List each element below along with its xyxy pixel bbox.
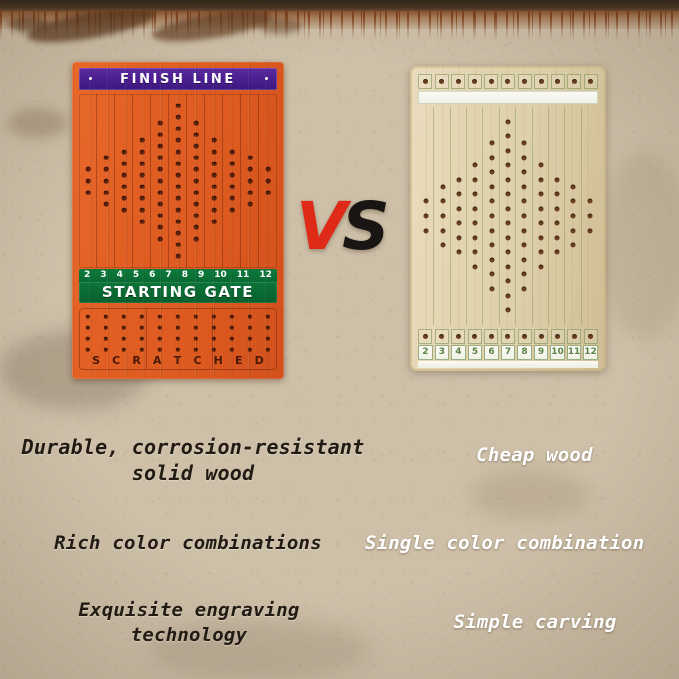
scratched-hole <box>194 315 198 319</box>
peg-hole <box>505 264 510 269</box>
scratched-letter-s: S <box>92 355 100 366</box>
peg-hole <box>587 199 592 204</box>
right-feature-2: Single color combination <box>365 531 679 556</box>
peg-hole <box>489 141 494 146</box>
peg-hole <box>555 235 560 240</box>
peg-hole <box>505 206 510 211</box>
peg-hole <box>522 228 527 233</box>
left-board-scratched-area: SCRATCHED <box>79 308 277 370</box>
peg-hole <box>176 103 181 108</box>
peg-hole <box>522 184 527 189</box>
peg-hole <box>104 190 109 195</box>
scratched-hole <box>158 337 162 341</box>
right-board-cell <box>551 74 565 89</box>
peg-column <box>516 107 532 325</box>
number-label: 10 <box>551 348 564 357</box>
number-label: 4 <box>455 348 461 357</box>
right-board-cell <box>435 329 449 344</box>
peg-hole <box>230 150 235 155</box>
peg-hole <box>194 144 199 149</box>
right-board-number-2: 2 <box>418 345 433 360</box>
scratched-hole <box>212 326 216 330</box>
peg-hole <box>439 334 444 339</box>
peg-hole <box>472 79 477 84</box>
number-label: 8 <box>521 348 527 357</box>
peg-hole <box>572 334 577 339</box>
peg-hole <box>194 190 199 195</box>
starting-gate-banner: STARTING GATE <box>79 282 277 303</box>
peg-hole <box>456 221 461 226</box>
scratched-letter-h: H <box>214 355 223 366</box>
peg-hole <box>176 219 181 224</box>
right-board-cell <box>484 74 498 89</box>
gate-number-3: 3 <box>100 271 106 280</box>
peg-hole <box>489 272 494 277</box>
peg-hole <box>176 208 181 213</box>
peg-hole <box>571 214 576 219</box>
right-board-bottom-bar <box>418 361 598 368</box>
peg-hole <box>538 221 543 226</box>
right-board-cell <box>501 74 515 89</box>
peg-hole <box>489 170 494 175</box>
scratched-letter-t: T <box>174 355 182 366</box>
finish-line-banner: FINISH LINE <box>79 68 277 90</box>
peg-hole <box>176 161 181 166</box>
peg-hole <box>194 225 199 230</box>
peg-hole <box>522 243 527 248</box>
peg-hole <box>538 264 543 269</box>
peg-hole <box>158 167 163 172</box>
right-board-number-5: 5 <box>468 345 483 360</box>
peg-hole <box>140 161 145 166</box>
right-board-number-row: 23456789101112 <box>418 345 598 360</box>
peg-hole <box>505 308 510 313</box>
scratched-letter-e: E <box>235 355 243 366</box>
peg-hole <box>194 167 199 172</box>
scratched-hole <box>158 348 162 352</box>
left-feature-2: Rich color combinations <box>8 531 368 556</box>
peg-hole <box>489 228 494 233</box>
peg-hole <box>86 190 91 195</box>
peg-hole <box>571 199 576 204</box>
number-label: 2 <box>422 348 428 357</box>
peg-hole <box>489 199 494 204</box>
peg-column <box>434 107 450 325</box>
peg-hole <box>505 148 510 153</box>
peg-hole <box>505 192 510 197</box>
peg-hole <box>505 119 510 124</box>
scratched-hole <box>104 326 108 330</box>
peg-hole <box>104 156 109 161</box>
peg-hole <box>539 79 544 84</box>
scratched-hole <box>86 315 90 319</box>
scratched-letter-d: D <box>255 355 264 366</box>
peg-hole <box>248 179 253 184</box>
peg-hole <box>194 202 199 207</box>
peg-hole <box>176 185 181 190</box>
peg-column <box>500 107 516 325</box>
peg-hole <box>538 192 543 197</box>
peg-hole <box>588 334 593 339</box>
peg-hole <box>122 173 127 178</box>
scratched-hole <box>104 315 108 319</box>
peg-hole <box>439 79 444 84</box>
peg-hole <box>122 196 127 201</box>
number-label: 12 <box>584 348 597 357</box>
gate-number-9: 9 <box>198 271 204 280</box>
peg-column <box>169 94 187 268</box>
peg-hole <box>158 237 163 242</box>
peg-hole <box>472 334 477 339</box>
peg-hole <box>176 231 181 236</box>
peg-hole <box>505 279 510 284</box>
peg-column <box>133 94 151 268</box>
scratched-hole <box>158 315 162 319</box>
peg-hole <box>230 185 235 190</box>
peg-hole <box>539 334 544 339</box>
peg-hole <box>489 155 494 160</box>
scratched-label: SCRATCHED <box>80 353 276 367</box>
scratched-hole <box>140 337 144 341</box>
scratched-hole <box>194 326 198 330</box>
peg-hole <box>194 156 199 161</box>
scratched-hole <box>122 337 126 341</box>
versus-v-letter: V <box>296 188 342 265</box>
peg-hole <box>555 206 560 211</box>
peg-hole <box>555 79 560 84</box>
right-board-number-12: 12 <box>583 345 598 360</box>
scratched-letter-c: C <box>193 355 201 366</box>
right-board-number-3: 3 <box>435 345 450 360</box>
peg-hole <box>571 228 576 233</box>
gate-number-5: 5 <box>133 271 139 280</box>
right-board-cell <box>501 329 515 344</box>
right-board-bottom-hole-row <box>418 328 598 344</box>
peg-hole <box>587 228 592 233</box>
right-board-number-7: 7 <box>501 345 516 360</box>
peg-hole <box>571 243 576 248</box>
peg-hole <box>122 185 127 190</box>
gate-number-10: 10 <box>214 271 227 280</box>
peg-hole <box>522 214 527 219</box>
peg-column <box>259 94 277 268</box>
peg-hole <box>176 254 181 259</box>
scratched-hole <box>122 315 126 319</box>
right-feature-3: Simple carving <box>395 610 675 635</box>
peg-hole <box>555 221 560 226</box>
peg-hole <box>473 206 478 211</box>
right-board-cell <box>435 74 449 89</box>
scratched-hole <box>194 348 198 352</box>
peg-hole <box>505 221 510 226</box>
peg-column <box>549 107 565 325</box>
peg-hole <box>266 167 271 172</box>
peg-hole <box>505 134 510 139</box>
scratched-hole <box>212 337 216 341</box>
peg-hole <box>505 250 510 255</box>
right-board-cell <box>518 329 532 344</box>
peg-hole <box>212 161 217 166</box>
versus-s-letter: S <box>342 188 385 265</box>
peg-column <box>467 107 483 325</box>
peg-hole <box>212 219 217 224</box>
peg-hole <box>489 214 494 219</box>
right-board-number-8: 8 <box>517 345 532 360</box>
peg-hole <box>122 150 127 155</box>
right-board-cell <box>451 329 465 344</box>
peg-hole <box>230 208 235 213</box>
number-label: 6 <box>488 348 494 357</box>
peg-hole <box>571 184 576 189</box>
scratched-hole <box>140 315 144 319</box>
scratched-letter-c: C <box>112 355 120 366</box>
peg-hole <box>158 156 163 161</box>
scratched-hole <box>104 337 108 341</box>
peg-hole <box>505 235 510 240</box>
peg-hole <box>158 179 163 184</box>
gate-number-4: 4 <box>117 271 123 280</box>
peg-hole <box>158 144 163 149</box>
peg-hole <box>587 214 592 219</box>
peg-hole <box>266 179 271 184</box>
peg-hole <box>522 257 527 262</box>
peg-column <box>151 94 169 268</box>
peg-column <box>565 107 581 325</box>
peg-hole <box>522 155 527 160</box>
peg-hole <box>230 196 235 201</box>
peg-hole <box>212 208 217 213</box>
right-board-cell <box>584 74 598 89</box>
peg-hole <box>456 235 461 240</box>
scratched-hole <box>230 315 234 319</box>
peg-hole <box>140 208 145 213</box>
peg-hole <box>212 138 217 143</box>
peg-hole <box>140 150 145 155</box>
peg-column <box>115 94 133 268</box>
peg-hole <box>538 177 543 182</box>
scratched-hole <box>158 326 162 330</box>
peg-hole <box>230 173 235 178</box>
peg-hole <box>248 202 253 207</box>
scratched-hole <box>122 326 126 330</box>
peg-hole <box>423 334 428 339</box>
peg-hole <box>104 202 109 207</box>
scratched-hole <box>248 315 252 319</box>
peg-hole <box>489 79 494 84</box>
peg-hole <box>248 156 253 161</box>
peg-hole <box>538 250 543 255</box>
peg-hole <box>140 185 145 190</box>
left-product-board: FINISH LINE 23456789101112 STARTING GATE… <box>72 62 284 379</box>
left-board-peg-field <box>79 94 277 268</box>
scratched-hole <box>248 348 252 352</box>
right-board-cell <box>584 329 598 344</box>
peg-column <box>187 94 205 268</box>
peg-hole <box>456 192 461 197</box>
left-board-gate-numbers: 23456789101112 <box>79 269 277 282</box>
number-label: 9 <box>538 348 544 357</box>
peg-hole <box>176 115 181 120</box>
peg-hole <box>440 214 445 219</box>
scratched-hole <box>212 348 216 352</box>
scratched-hole <box>140 348 144 352</box>
right-board-cell <box>567 329 581 344</box>
right-board-cell <box>567 74 581 89</box>
peg-hole <box>158 121 163 126</box>
scratched-hole <box>86 348 90 352</box>
starting-gate-label: STARTING GATE <box>102 285 254 300</box>
peg-hole <box>522 334 527 339</box>
peg-hole <box>456 206 461 211</box>
peg-hole <box>489 184 494 189</box>
gate-number-7: 7 <box>165 271 171 280</box>
number-label: 7 <box>505 348 511 357</box>
peg-hole <box>538 163 543 168</box>
scratched-hole <box>140 326 144 330</box>
peg-column <box>241 94 259 268</box>
peg-hole <box>212 185 217 190</box>
scratched-hole <box>122 348 126 352</box>
peg-hole <box>505 334 510 339</box>
peg-hole <box>489 334 494 339</box>
scratched-hole <box>86 337 90 341</box>
scratched-divider <box>146 309 147 369</box>
peg-hole <box>522 79 527 84</box>
peg-hole <box>489 243 494 248</box>
peg-hole <box>522 141 527 146</box>
peg-hole <box>248 167 253 172</box>
scratched-hole <box>104 348 108 352</box>
peg-hole <box>440 199 445 204</box>
peg-hole <box>456 250 461 255</box>
peg-hole <box>194 121 199 126</box>
scratched-hole <box>266 315 270 319</box>
peg-hole <box>440 184 445 189</box>
peg-hole <box>176 150 181 155</box>
number-label: 11 <box>568 348 581 357</box>
scratched-hole <box>230 348 234 352</box>
peg-column <box>205 94 223 268</box>
peg-hole <box>212 196 217 201</box>
peg-hole <box>572 79 577 84</box>
right-board-cell <box>468 329 482 344</box>
peg-hole <box>440 243 445 248</box>
scratched-hole <box>266 337 270 341</box>
right-board-number-6: 6 <box>484 345 499 360</box>
peg-hole <box>538 235 543 240</box>
peg-hole <box>194 179 199 184</box>
scratched-hole <box>230 337 234 341</box>
right-product-board: 23456789101112 <box>410 66 606 371</box>
peg-hole <box>266 190 271 195</box>
scratched-hole <box>230 326 234 330</box>
scratched-hole <box>176 315 180 319</box>
gate-number-11: 11 <box>237 271 250 280</box>
peg-hole <box>473 250 478 255</box>
right-board-cell <box>534 329 548 344</box>
right-board-cell <box>484 329 498 344</box>
peg-hole <box>140 138 145 143</box>
peg-hole <box>473 177 478 182</box>
scratched-hole <box>176 337 180 341</box>
peg-hole <box>489 286 494 291</box>
banner-dot <box>89 77 92 80</box>
right-board-top-hole-row <box>418 73 598 89</box>
peg-hole <box>248 190 253 195</box>
peg-hole <box>194 237 199 242</box>
right-board-cell <box>418 74 432 89</box>
peg-hole <box>104 167 109 172</box>
right-board-cell <box>534 74 548 89</box>
peg-hole <box>473 163 478 168</box>
right-feature-1: Cheap wood <box>390 443 679 468</box>
peg-hole <box>176 196 181 201</box>
right-board-cell <box>551 329 565 344</box>
peg-hole <box>522 199 527 204</box>
peg-hole <box>473 264 478 269</box>
scratched-hole <box>266 326 270 330</box>
peg-hole <box>555 334 560 339</box>
scratched-hole <box>266 348 270 352</box>
peg-hole <box>456 334 461 339</box>
peg-hole <box>194 132 199 137</box>
peg-column <box>483 107 499 325</box>
peg-hole <box>522 272 527 277</box>
peg-hole <box>473 192 478 197</box>
peg-hole <box>505 79 510 84</box>
scratched-hole <box>212 315 216 319</box>
peg-hole <box>555 177 560 182</box>
peg-column <box>97 94 115 268</box>
scratched-hole <box>194 337 198 341</box>
right-board-cell <box>518 74 532 89</box>
peg-hole <box>86 167 91 172</box>
gate-number-6: 6 <box>149 271 155 280</box>
versus-badge: VS <box>296 191 396 263</box>
peg-hole <box>424 214 429 219</box>
left-feature-3: Exquisite engraving technology <box>4 598 374 647</box>
peg-hole <box>505 177 510 182</box>
peg-hole <box>176 243 181 248</box>
right-board-cell <box>418 329 432 344</box>
peg-column <box>533 107 549 325</box>
scratched-hole <box>86 326 90 330</box>
scratched-letter-r: R <box>132 355 140 366</box>
peg-hole <box>522 286 527 291</box>
peg-hole <box>230 161 235 166</box>
peg-hole <box>424 199 429 204</box>
banner-dot <box>265 77 268 80</box>
gate-number-2: 2 <box>84 271 90 280</box>
peg-hole <box>538 206 543 211</box>
peg-hole <box>176 173 181 178</box>
peg-hole <box>555 192 560 197</box>
right-board-number-11: 11 <box>567 345 582 360</box>
peg-hole <box>140 173 145 178</box>
peg-hole <box>456 177 461 182</box>
peg-hole <box>456 79 461 84</box>
peg-hole <box>158 132 163 137</box>
peg-hole <box>440 228 445 233</box>
peg-hole <box>122 161 127 166</box>
peg-hole <box>158 190 163 195</box>
peg-hole <box>423 79 428 84</box>
peg-hole <box>489 257 494 262</box>
peg-hole <box>86 179 91 184</box>
scratched-letter-a: A <box>153 355 162 366</box>
scratched-hole <box>248 337 252 341</box>
peg-hole <box>588 79 593 84</box>
